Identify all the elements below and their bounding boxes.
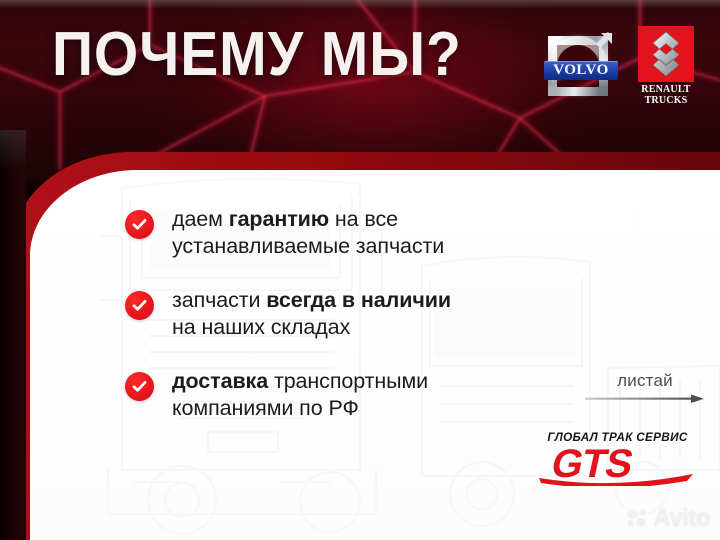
swipe-hint-label: листай — [585, 372, 705, 389]
brand-logo-group: VOLVO — [544, 26, 694, 106]
renault-wordmark: RENAULT TRUCKS — [638, 85, 694, 106]
renault-wordmark-line1: RENAULT — [638, 85, 694, 96]
benefit-line2-pre: компаниями по РФ — [172, 396, 359, 420]
benefit-line2-pre: на наших складах — [172, 315, 350, 339]
check-circle-icon — [125, 291, 154, 320]
volvo-wordmark: VOLVO — [553, 62, 609, 79]
benefit-line2-pre: устанавливаемые запчасти — [172, 234, 444, 258]
benefit-text: запчасти всегда в наличии на наших склад… — [172, 287, 451, 340]
volvo-logo: VOLVO — [544, 26, 618, 100]
check-circle-icon — [125, 210, 154, 239]
benefit-text: даем гарантию на все устанавливаемые зап… — [172, 206, 444, 259]
checkmark-glyph — [131, 297, 148, 314]
company-tagline: ГЛОБАЛ ТРАК СЕРВИС — [533, 432, 701, 444]
page-title: ПОЧЕМУ МЫ? — [52, 24, 462, 86]
benefit-line1-post: транспортными — [268, 369, 428, 393]
header-top-highlight — [0, 0, 720, 9]
avito-dots-icon — [626, 508, 648, 528]
avito-watermark: Avito — [626, 504, 710, 532]
benefit-text: доставка транспортными компаниями по РФ — [172, 368, 428, 421]
swipe-hint[interactable]: листай — [585, 372, 705, 410]
arrow-right-icon — [585, 393, 705, 405]
benefit-item: даем гарантию на все устанавливаемые зап… — [125, 206, 595, 259]
volvo-wordmark-bar: VOLVO — [544, 61, 618, 80]
left-dark-band-highlight — [0, 130, 26, 170]
volvo-arrow-icon — [590, 28, 616, 54]
renault-wordmark-line2: TRUCKS — [638, 96, 694, 107]
avito-wordmark: Avito — [653, 504, 710, 532]
promo-slide: ПОЧЕМУ МЫ? VOLVO — [0, 0, 720, 540]
renault-diamond-icon — [646, 30, 686, 78]
benefit-item: доставка транспортными компаниями по РФ — [125, 368, 595, 421]
benefit-line1-bold: доставка — [172, 369, 268, 393]
checkmark-glyph — [131, 378, 148, 395]
checkmark-glyph — [131, 216, 148, 233]
svg-text:GTS: GTS — [548, 442, 637, 486]
gts-wordmark-icon: GTS — [535, 442, 700, 486]
left-dark-band — [0, 130, 26, 540]
benefit-line1-pre: запчасти — [172, 288, 266, 312]
renault-logo-box — [638, 26, 694, 82]
benefits-list: даем гарантию на все устанавливаемые зап… — [125, 206, 595, 449]
renault-trucks-logo: RENAULT TRUCKS — [638, 26, 694, 106]
benefit-line1-post: на все — [329, 207, 398, 231]
benefit-item: запчасти всегда в наличии на наших склад… — [125, 287, 595, 340]
benefit-line1-bold: всегда в наличии — [266, 288, 451, 312]
benefit-line1-bold: гарантию — [229, 207, 329, 231]
benefit-line1-pre: даем — [172, 207, 229, 231]
company-logo: ГЛОБАЛ ТРАК СЕРВИС GTS — [535, 432, 700, 491]
check-circle-icon — [125, 372, 154, 401]
